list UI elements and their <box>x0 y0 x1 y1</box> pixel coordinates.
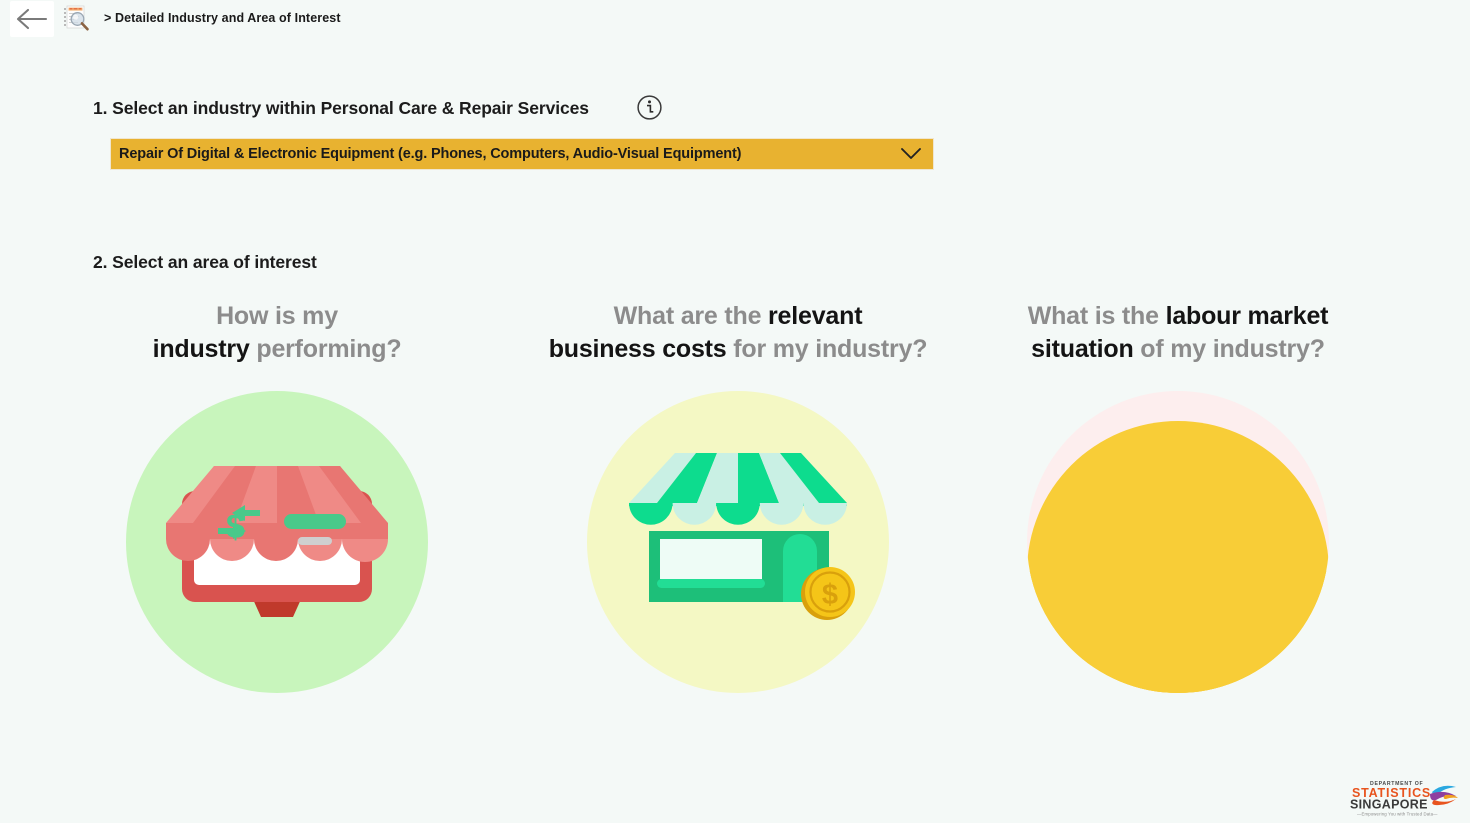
card-title-part: performing? <box>250 335 402 363</box>
top-bar: > Detailed Industry and Area of Interest <box>0 0 1470 38</box>
chevron-down-icon[interactable] <box>889 147 933 161</box>
detailed-industry-page: > Detailed Industry and Area of Interest… <box>0 0 1470 823</box>
card-business-costs[interactable]: What are the relevant business costs for… <box>528 300 948 693</box>
card-illustration: $ <box>67 391 487 693</box>
info-icon[interactable] <box>636 94 663 121</box>
document-search-icon[interactable] <box>62 4 92 34</box>
card-title-part: What are the <box>614 302 768 330</box>
card-title-part-bold: business costs <box>549 335 727 363</box>
singstat-logo: DEPARTMENT OF STATISTICS SINGAPORE —Empo… <box>1346 776 1462 818</box>
back-button[interactable] <box>10 1 54 37</box>
card-title: What is the labour market situation of m… <box>968 300 1388 366</box>
step-1-label: 1. Select an industry within Personal Ca… <box>93 98 589 119</box>
card-title-part: What is the <box>1028 302 1166 330</box>
card-title: How is my industry performing? <box>67 300 487 366</box>
card-title-part-bold: industry <box>153 335 250 363</box>
logo-tagline: —Empowering You with Trusted Data— <box>1357 812 1438 817</box>
svg-text:$: $ <box>822 579 838 611</box>
card-title-part: How is my <box>216 302 338 330</box>
card-title-part-bold: relevant <box>768 302 862 330</box>
singstat-swoosh-icon <box>1430 786 1458 805</box>
industry-dropdown[interactable]: Repair Of Digital & Electronic Equipment… <box>110 138 934 170</box>
industry-dropdown-value: Repair Of Digital & Electronic Equipment… <box>111 146 889 162</box>
card-title-part-bold: situation <box>1031 335 1133 363</box>
back-arrow-icon <box>15 7 49 31</box>
card-title-part: of my industry? <box>1134 335 1325 363</box>
card-title: What are the relevant business costs for… <box>528 300 948 366</box>
logo-line-3: SINGAPORE <box>1350 798 1428 812</box>
card-title-part: for my industry? <box>727 335 928 363</box>
step-2-label: 2. Select an area of interest <box>93 252 317 273</box>
storefront-with-coin-icon: $ <box>587 391 889 693</box>
card-industry-performance[interactable]: How is my industry performing? <box>67 300 487 693</box>
svg-text:$: $ <box>226 508 245 546</box>
card-illustration: $ <box>528 391 948 693</box>
cashier-counter-icon <box>1027 391 1329 693</box>
breadcrumb[interactable]: > Detailed Industry and Area of Interest <box>104 11 341 25</box>
online-store-monitor-icon: $ <box>126 391 428 693</box>
card-labour-market[interactable]: What is the labour market situation of m… <box>968 300 1388 693</box>
card-title-part-bold: labour market <box>1166 302 1329 330</box>
card-illustration <box>968 391 1388 693</box>
